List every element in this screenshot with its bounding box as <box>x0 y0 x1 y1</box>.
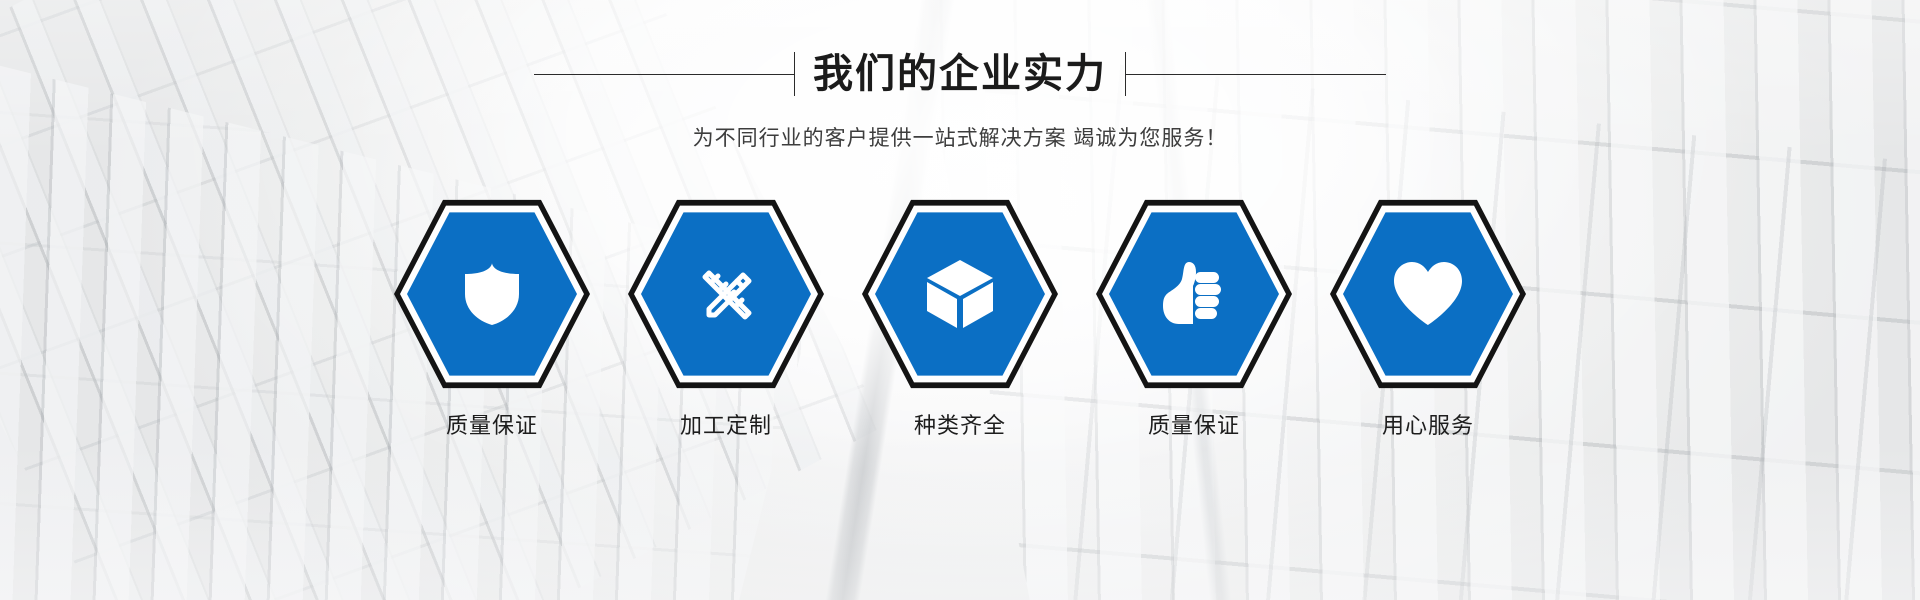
heading-rule-right <box>1126 74 1386 75</box>
hexagon-badge[interactable] <box>1330 196 1526 392</box>
heart-icon <box>1330 196 1526 392</box>
section-heading: 我们的企业实力 <box>0 52 1920 96</box>
feature-label: 用心服务 <box>1382 408 1474 440</box>
thumbs-up-icon <box>1096 196 1292 392</box>
section-subtitle: 为不同行业的客户提供一站式解决方案 竭诚为您服务！ <box>0 122 1920 152</box>
feature-label: 质量保证 <box>1148 408 1240 440</box>
cube-box-icon <box>862 196 1058 392</box>
hexagon-badge[interactable] <box>394 196 590 392</box>
banner-content: 我们的企业实力 为不同行业的客户提供一站式解决方案 竭诚为您服务！ <box>0 0 1920 600</box>
feature-item[interactable]: 加工定制 <box>621 196 831 440</box>
feature-item[interactable]: 质量保证 <box>1089 196 1299 440</box>
feature-label: 质量保证 <box>446 408 538 440</box>
hexagon-badge[interactable] <box>862 196 1058 392</box>
feature-item[interactable]: 种类齐全 <box>855 196 1065 440</box>
heading-rule-left <box>534 74 794 75</box>
hexagon-badge[interactable] <box>1096 196 1292 392</box>
feature-item[interactable]: 质量保证 <box>387 196 597 440</box>
company-strength-banner: 我们的企业实力 为不同行业的客户提供一站式解决方案 竭诚为您服务！ <box>0 0 1920 600</box>
pencil-ruler-icon <box>628 196 824 392</box>
hexagon-badge[interactable] <box>628 196 824 392</box>
page-title: 我们的企业实力 <box>795 54 1125 94</box>
feature-hexagon-row: 质量保证 <box>387 196 1533 440</box>
feature-label: 种类齐全 <box>914 408 1006 440</box>
feature-label: 加工定制 <box>680 408 772 440</box>
feature-item[interactable]: 用心服务 <box>1323 196 1533 440</box>
shield-icon <box>394 196 590 392</box>
